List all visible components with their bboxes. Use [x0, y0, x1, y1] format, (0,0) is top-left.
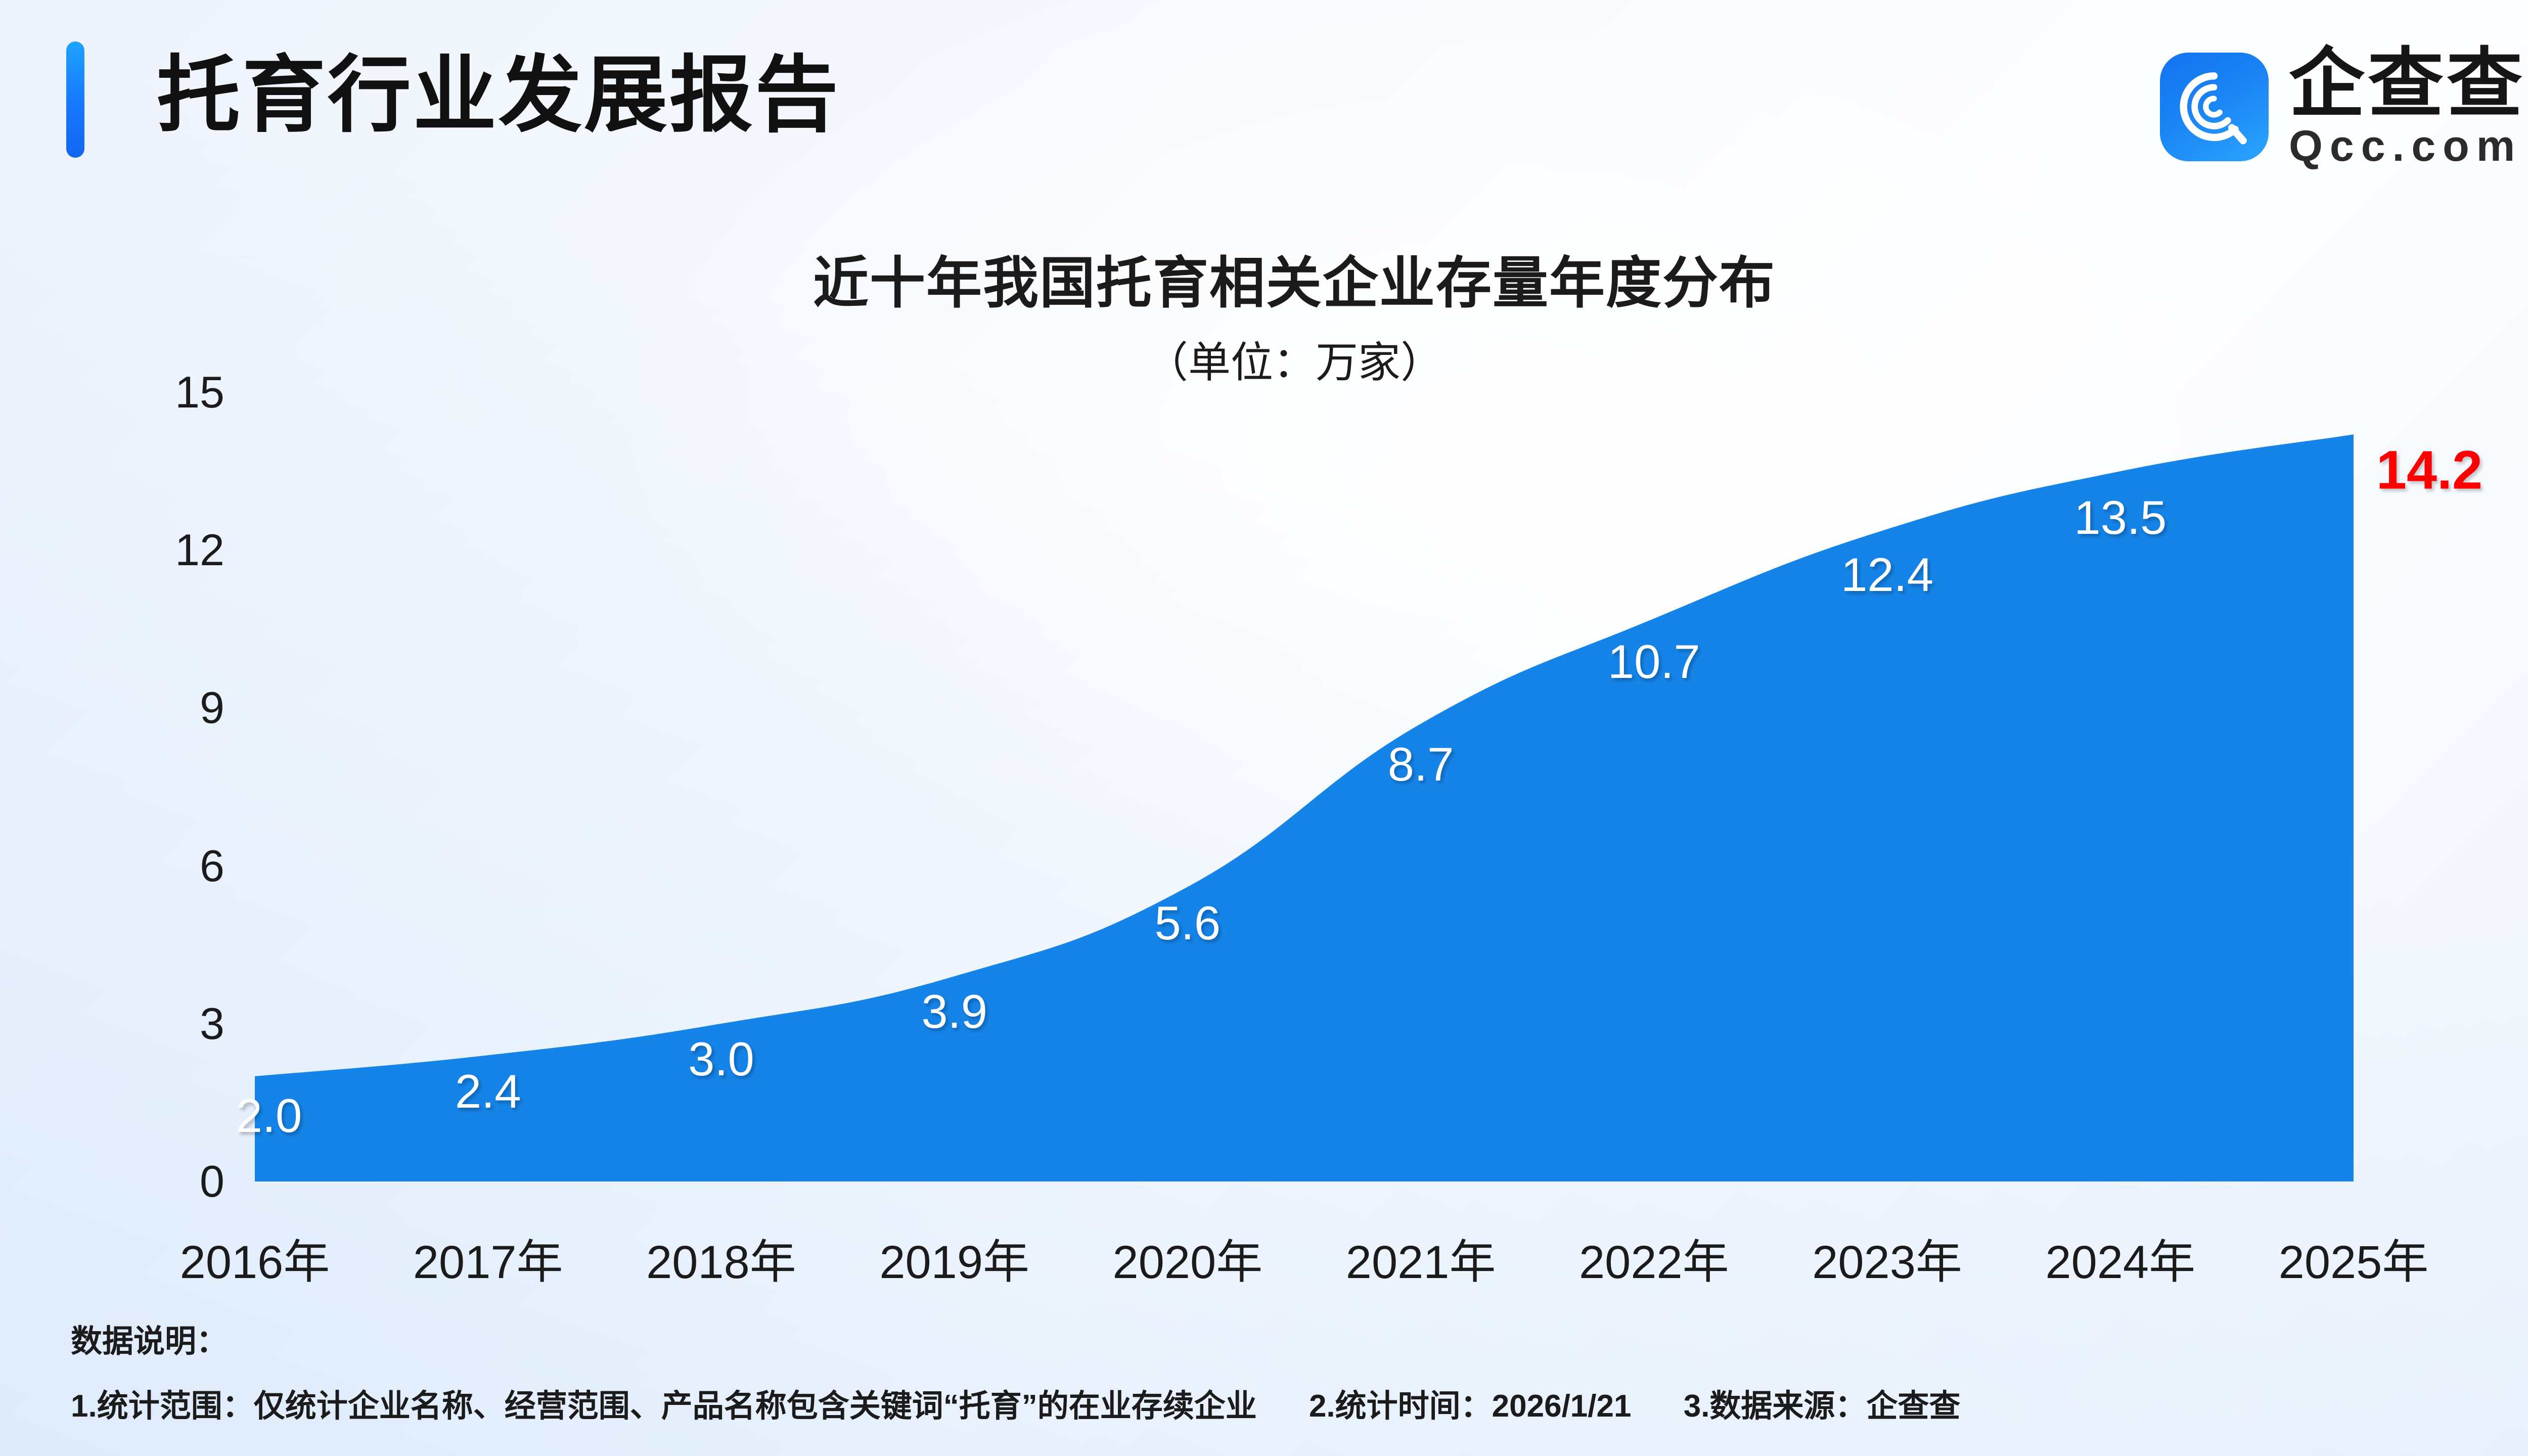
data-point-label: 10.7	[1608, 634, 1700, 689]
data-point-label: 3.9	[921, 984, 987, 1039]
data-point-label: 14.2	[2376, 438, 2482, 502]
area-series-path	[255, 434, 2354, 1181]
y-axis-tick-label: 9	[73, 682, 224, 734]
x-axis-tick-label: 2016年	[180, 1224, 330, 1292]
page-header: 托育行业发展报告 企查查 Qcc.com	[0, 0, 2528, 202]
y-axis-tick-label: 3	[73, 998, 224, 1050]
footer-note-1: 1.统计范围：仅统计企业名称、经营范围、产品名称包含关键词“托育”的在业存续企业	[71, 1389, 1257, 1424]
brand-name-en: Qcc.com	[2289, 124, 2525, 168]
data-point-label: 2.0	[236, 1088, 302, 1143]
x-axis-tick-label: 2023年	[1812, 1224, 1962, 1292]
footer-note-2: 2.统计时间：2026/1/21	[1309, 1389, 1632, 1424]
x-axis-tick-label: 2019年	[879, 1224, 1029, 1292]
chart-subtitle-unit: （单位：万家）	[0, 329, 2528, 390]
data-point-label: 12.4	[1841, 548, 1933, 602]
report-title: 托育行业发展报告	[157, 43, 840, 147]
footer-notes: 数据说明： 1.统计范围：仅统计企业名称、经营范围、产品名称包含关键词“托育”的…	[71, 1315, 1960, 1426]
y-axis-tick-label: 12	[73, 524, 224, 576]
x-axis-tick-label: 2020年	[1113, 1224, 1263, 1292]
brand-logo-text: 企查查 Qcc.com	[2289, 45, 2525, 168]
x-axis-tick-label: 2024年	[2045, 1224, 2195, 1292]
footer-title: 数据说明：	[71, 1315, 1960, 1361]
data-point-label: 13.5	[2074, 490, 2166, 545]
data-point-label: 3.0	[688, 1032, 754, 1086]
area-chart: 03691215 2016年2017年2018年2019年2020年2021年2…	[0, 0, 2528, 1456]
x-axis-tick-label: 2021年	[1346, 1224, 1496, 1292]
x-axis-tick-label: 2022年	[1579, 1224, 1729, 1292]
data-point-label: 5.6	[1155, 896, 1221, 950]
x-axis-tick-label: 2017年	[413, 1224, 563, 1292]
x-axis-tick-label: 2018年	[646, 1224, 796, 1292]
footer-note-3: 3.数据来源：企查查	[1684, 1389, 1961, 1424]
data-point-label: 2.4	[455, 1064, 521, 1119]
x-axis-tick-label: 2025年	[2279, 1224, 2429, 1292]
chart-title: 近十年我国托育相关企业存量年度分布	[0, 238, 2528, 318]
title-accent-bar	[66, 41, 84, 158]
y-axis-tick-label: 6	[73, 840, 224, 892]
data-point-label: 8.7	[1388, 737, 1454, 792]
background-gradient-overlay	[0, 0, 2528, 1456]
brand-name-cn: 企查查	[2289, 45, 2525, 121]
axis-corner-bracket	[259, 1081, 305, 1172]
y-axis-tick-label: 0	[73, 1156, 224, 1207]
qcc-spiral-q-logo-icon	[2160, 53, 2269, 161]
brand-logo: 企查查 Qcc.com	[2160, 45, 2525, 168]
footer-note-line: 1.统计范围：仅统计企业名称、经营范围、产品名称包含关键词“托育”的在业存续企业…	[71, 1380, 1960, 1426]
